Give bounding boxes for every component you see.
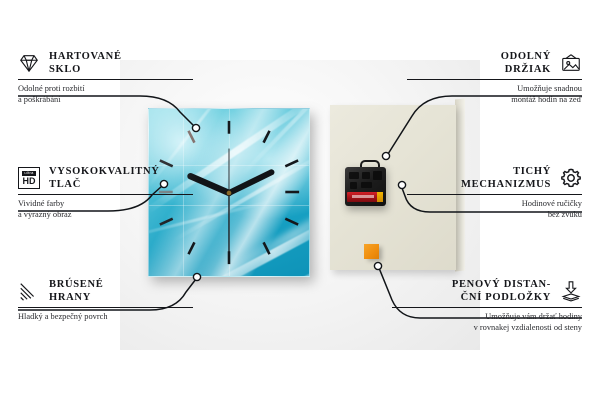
feature-title: BRÚSENÉHRANY	[49, 278, 104, 304]
feature-heading: PENOVÝ DISTAN-ČNÍ PODLOŽKY	[392, 278, 582, 304]
feature-tempered-glass: HARTOVANÉSKLO Odolné proti rozbitía pošk…	[18, 50, 193, 105]
feature-title: TICHÝMECHANIZMUS	[461, 165, 551, 191]
feature-durable-hanger: ODOLNÝDRŽIAK Umožňuje snadnoumontáž hodi…	[407, 50, 582, 105]
mechanism-detail	[362, 172, 370, 179]
feature-title: HARTOVANÉSKLO	[49, 50, 122, 76]
mechanism-detail	[349, 172, 359, 179]
minute-hand	[229, 172, 271, 193]
feature-title: ODOLNÝDRŽIAK	[501, 50, 551, 76]
gear-icon	[560, 167, 582, 189]
feature-divider	[392, 307, 582, 308]
feature-heading: ultra HD VYSOKOKVALITNÝTLAČ	[18, 165, 193, 191]
mechanism-detail	[361, 182, 372, 188]
clock-center-cap	[227, 191, 232, 196]
stacked-layers-arrow-icon	[560, 280, 582, 302]
feature-divider	[407, 194, 582, 195]
picture-frame-icon	[560, 52, 582, 74]
feature-divider	[18, 307, 193, 308]
feature-description: Hodinové ručičkybez zvuku	[407, 198, 582, 220]
feature-title: VYSOKOKVALITNÝTLAČ	[49, 165, 160, 191]
feature-heading: ODOLNÝDRŽIAK	[407, 50, 582, 76]
foam-spacer-pad	[364, 244, 379, 259]
feature-description: Vividné farbya výrazný obraz	[18, 198, 193, 220]
mechanism-detail	[350, 182, 357, 189]
diamond-icon	[18, 52, 40, 74]
battery-label	[352, 195, 374, 198]
feature-divider	[18, 194, 193, 195]
feature-high-quality-print: ultra HD VYSOKOKVALITNÝTLAČ Vividné farb…	[18, 165, 193, 220]
hour-hand	[190, 176, 229, 193]
hd-label: HD	[23, 177, 36, 186]
diagonal-lines-icon	[18, 280, 40, 302]
feature-heading: BRÚSENÉHRANY	[18, 278, 193, 304]
product-infographic: HARTOVANÉSKLO Odolné proti rozbitía pošk…	[0, 0, 600, 400]
feature-description: Umožňuje snadnoumontáž hodin na zeď	[407, 83, 582, 105]
feature-divider	[18, 79, 193, 80]
feature-description: Odolné proti rozbitía poškrábání	[18, 83, 193, 105]
ultra-label: ultra	[22, 171, 35, 176]
battery-tip	[377, 192, 383, 202]
feature-description: Hladký a bezpečný povrch	[18, 311, 193, 322]
feature-polished-edges: BRÚSENÉHRANY Hladký a bezpečný povrch	[18, 278, 193, 322]
mechanism-detail	[373, 171, 382, 180]
feature-divider	[407, 79, 582, 80]
ultra-hd-icon: ultra HD	[18, 167, 40, 189]
feature-heading: HARTOVANÉSKLO	[18, 50, 193, 76]
feature-title: PENOVÝ DISTAN-ČNÍ PODLOŽKY	[452, 278, 551, 304]
feature-heading: TICHÝMECHANIZMUS	[407, 165, 582, 191]
feature-silent-mechanism: TICHÝMECHANIZMUS Hodinové ručičkybez zvu…	[407, 165, 582, 220]
feature-foam-spacers: PENOVÝ DISTAN-ČNÍ PODLOŽKY Umožňuje vám …	[392, 278, 582, 333]
feature-description: Umožňuje vám držať hodinyv rovnakej vzdi…	[392, 311, 582, 333]
